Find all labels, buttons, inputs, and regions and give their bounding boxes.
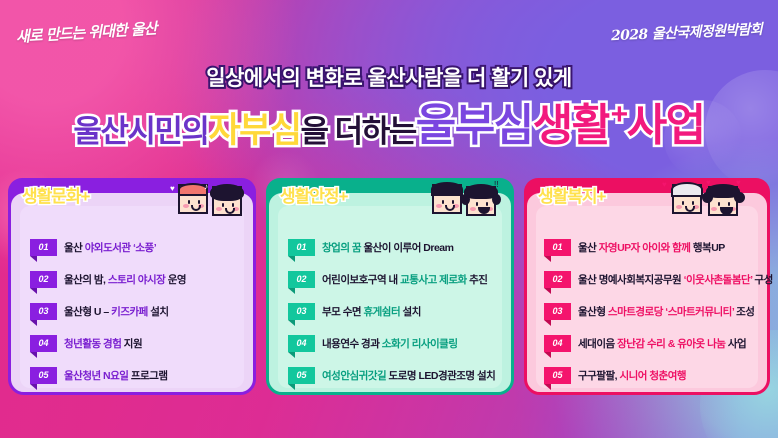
item-text: 울산형 U – 키즈카페 설치 — [64, 304, 169, 319]
item-number-badge: 03 — [288, 303, 315, 320]
item-text: 울산의 밤, 스토리 야시장 운영 — [64, 272, 186, 287]
item-text: 구구팔팔, 시니어 청춘여행 — [578, 368, 686, 383]
item-number-badge: 05 — [544, 367, 571, 384]
character-man-blackhair — [432, 184, 462, 214]
list-item: 02 울산 명예사회복지공무원 ‘이웃사촌돌봄단’ 구성 — [544, 268, 773, 290]
title-part-life: 생활 — [533, 104, 611, 148]
item-number-badge: 01 — [544, 239, 571, 256]
item-text: 부모 수면 휴게쉼터 설치 — [322, 304, 421, 319]
title-part-pride: 자부심 — [208, 113, 300, 148]
list-item: 04 내용연수 경과 소화기 리사이클링 — [288, 332, 458, 354]
item-number-badge: 03 — [30, 303, 57, 320]
card-2-title: 생활안정+ — [280, 182, 348, 207]
character-girl-pigtails — [466, 186, 496, 216]
card-3-inner-panel — [536, 206, 758, 388]
list-item: 04 청년활동 경험 지원 — [30, 332, 142, 354]
poster-subtitle: 일상에서의 변화로 울산사람을 더 활기 있게 — [0, 62, 778, 92]
item-text: 청년활동 경험 지원 — [64, 336, 142, 351]
item-number-badge: 05 — [30, 367, 57, 384]
list-item: 03 울산형 스마트경로당 ‘스마트커뮤니티’ 조성 — [544, 300, 754, 322]
title-plus-sign: + — [611, 100, 627, 130]
list-item: 03 부모 수면 휴게쉼터 설치 — [288, 300, 421, 322]
heart-icon: ♥ — [662, 180, 667, 189]
item-text: 세대이음 장난감 수리 & 유아옷 나눔 사업 — [578, 336, 746, 351]
infographic-poster: 새로 만드는 위대한 울산 2028 울산국제정원박람회 일상에서의 변화로 울… — [0, 0, 778, 438]
character-grandma-whitehair — [672, 184, 702, 214]
item-number-badge: 04 — [30, 335, 57, 352]
item-number-badge: 04 — [288, 335, 315, 352]
item-text: 여성안심귀갓길 도로명 LED경관조명 설치 — [322, 368, 495, 383]
list-item: 04 세대이음 장난감 수리 & 유아옷 나눔 사업 — [544, 332, 746, 354]
list-item: 02 울산의 밤, 스토리 야시장 운영 — [30, 268, 186, 290]
list-item: 02 어린이보호구역 내 교통사고 제로화 추진 — [288, 268, 487, 290]
music-note-icon: ♪ — [204, 182, 208, 191]
item-text: 내용연수 경과 소화기 리사이클링 — [322, 336, 458, 351]
list-item: 01 울산 야외도서관 ‘소풍’ — [30, 236, 156, 258]
item-number-badge: 05 — [288, 367, 315, 384]
item-number-badge: 02 — [30, 271, 57, 288]
heart-icon: ♥ — [706, 178, 711, 187]
item-number-badge: 03 — [544, 303, 571, 320]
list-item: 05 구구팔팔, 시니어 청춘여행 — [544, 364, 686, 386]
list-item: 05 울산청년 N요일 프로그램 — [30, 364, 168, 386]
sparkle-icon: !! — [494, 180, 498, 189]
heart-icon: ♥ — [736, 178, 741, 187]
item-number-badge: 01 — [30, 239, 57, 256]
poster-title: 울산시민의자부심을 더하는울부심생활+사업 — [0, 100, 778, 148]
item-number-badge: 02 — [288, 271, 315, 288]
heart-icon: ♥ — [170, 184, 175, 193]
item-text: 울산 야외도서관 ‘소풍’ — [64, 240, 156, 255]
item-text: 창업의 꿈 울산이 이루어 Dream — [322, 240, 453, 255]
card-2-inner-panel — [278, 206, 502, 388]
list-item: 05 여성안심귀갓길 도로명 LED경관조명 설치 — [288, 364, 495, 386]
item-number-badge: 02 — [544, 271, 571, 288]
card-3-title: 생활복지+ — [538, 182, 606, 207]
item-text: 울산 자영UP자 아이와 함께 행복UP — [578, 240, 725, 255]
list-item: 01 울산 자영UP자 아이와 함께 행복UP — [544, 236, 725, 258]
item-text: 울산 명예사회복지공무원 ‘이웃사촌돌봄단’ 구성 — [578, 272, 773, 287]
item-number-badge: 04 — [544, 335, 571, 352]
title-part-adding: 을 더하는 — [301, 116, 416, 147]
character-girl-blackhair — [212, 186, 242, 216]
list-item: 03 울산형 U – 키즈카페 설치 — [30, 300, 169, 322]
character-girl-hearts — [708, 186, 738, 216]
item-number-badge: 01 — [288, 239, 315, 256]
item-text: 어린이보호구역 내 교통사고 제로화 추진 — [322, 272, 487, 287]
item-text: 울산형 스마트경로당 ‘스마트커뮤니티’ 조성 — [578, 304, 754, 319]
title-part-project: 사업 — [627, 104, 705, 148]
card-1-title: 생활문화+ — [22, 182, 90, 207]
list-item: 01 창업의 꿈 울산이 이루어 Dream — [288, 236, 453, 258]
title-part-ulbusim: 울부심 — [416, 104, 533, 148]
card-1-inner-panel — [20, 206, 244, 388]
item-text: 울산청년 N요일 프로그램 — [64, 368, 168, 383]
title-part-citizens: 울산시민의 — [73, 116, 208, 147]
